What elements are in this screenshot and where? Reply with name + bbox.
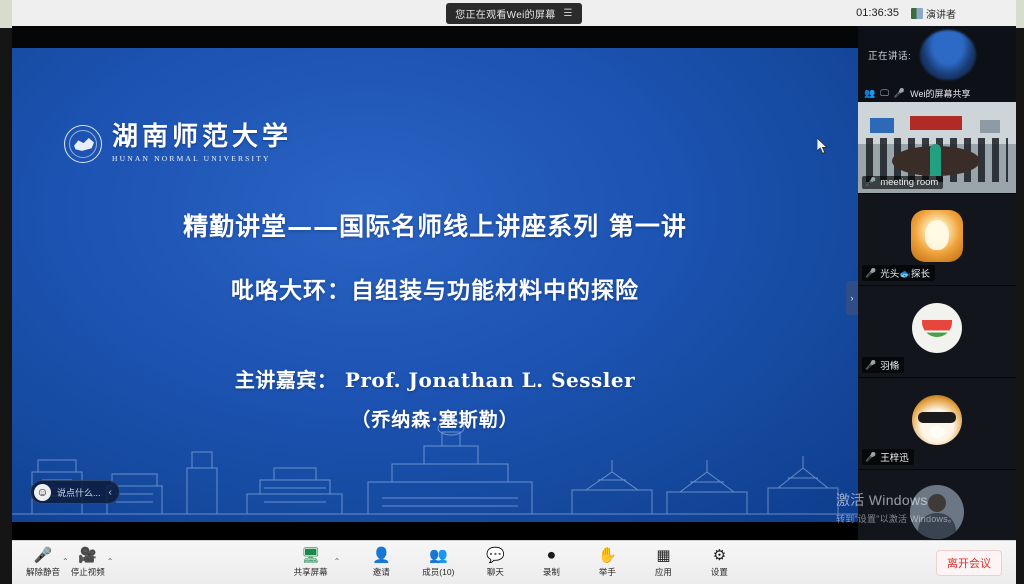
apps-icon: ▦ [656,548,670,564]
participant-name: 王梓迅 [880,450,909,464]
avatar [912,395,962,445]
microphone-muted-icon: 🎤 [865,452,876,463]
leave-meeting-button[interactable]: 离开会议 [936,550,1002,576]
monitor-bezel-left [0,0,12,584]
chat-label: 聊天 [487,566,504,578]
participant-name-chip: 🎤 羽翛 [862,357,904,373]
view-mode-label: 演讲者 [926,6,956,21]
toolbar-center-group: 🖥 共享屏幕 ⌃ 👤 邀请 👥 成员(10) 💬 聊天 ⏺ 录制 ✋ [12,548,1016,578]
reaction-chat-bubble[interactable]: ☺ 说点什么... ‹ [30,480,120,504]
apps-button[interactable]: ▦ 应用 [648,548,678,578]
avatar [910,485,964,539]
viewing-screen-label: 您正在观看Wei的屏幕 [455,6,555,21]
slide-guest-line: 主讲嘉宾： Prof. Jonathan L. Sessler [12,364,858,393]
participant-name-chip: 🎤 光头🐟探长 [862,265,935,281]
participant-name: 羽翛 [880,358,899,372]
settings-gear-icon: ⚙ [713,548,726,564]
participant-tile-meeting-room[interactable]: 🎤 meeting room [858,102,1016,194]
zoom-meeting-window: 您正在观看Wei的屏幕 ☰ 01:36:35 演讲者 湖南师范大学 HUNAN … [0,0,1024,584]
participants-button[interactable]: 👥 成员(10) [422,548,454,578]
microphone-muted-icon: 🎤 [894,89,905,98]
participant-name-chip: 🎤 meeting room [862,176,943,189]
participant-tile-2[interactable]: 🎤 光头🐟探长 [858,194,1016,286]
slide-title-line2: 吡咯大环：自组装与功能材料中的探险 [12,271,858,305]
meeting-control-toolbar: 🎤 解除静音 ⌃ 🎥 停止视频 ⌃ 🖥 共享屏幕 ⌃ 👤 邀请 👥 成员(1 [12,540,1016,584]
participants-icon: 👥 [864,89,875,98]
university-name-cn: 湖南师范大学 [112,124,292,150]
participant-tile-3[interactable]: 🎤 羽翛 [858,286,1016,378]
hamburger-icon[interactable]: ☰ [564,8,573,19]
chat-input-placeholder[interactable]: 说点什么... [57,486,101,499]
participant-name: 光头🐟探长 [880,266,930,280]
chat-icon: 💬 [486,548,505,564]
settings-label: 设置 [711,566,728,578]
raise-hand-label: 举手 [599,566,616,578]
share-screen-label: 共享屏幕 [294,566,328,578]
invite-label: 邀请 [373,566,390,578]
apps-label: 应用 [655,566,672,578]
participant-video-rail: 正在讲话: 👥 🖵 🎤 Wei的屏幕共享 🎤 meeting room [858,26,1016,540]
share-screen-icon: 🖥 [301,548,320,564]
viewing-screen-pill[interactable]: 您正在观看Wei的屏幕 ☰ [446,3,582,24]
invite-button[interactable]: 👤 邀请 [366,548,396,578]
mouse-cursor [817,138,829,155]
university-seal-icon [64,125,102,163]
raise-hand-icon: ✋ [598,548,617,564]
view-mode-button[interactable]: 演讲者 [911,6,956,21]
avatar [911,210,963,262]
participant-tile-4[interactable]: 🎤 王梓迅 [858,378,1016,470]
collapse-sidebar-handle[interactable]: › [846,281,858,315]
share-options-caret-icon[interactable]: ⌃ [334,557,341,578]
top-bar-right-group: 01:36:35 演讲者 [856,0,956,26]
participant-tile-5[interactable] [858,470,1016,540]
settings-button[interactable]: ⚙ 设置 [704,548,734,578]
microphone-muted-icon: 🎤 [865,360,876,371]
campus-skyline-illustration [12,402,858,522]
chevron-left-icon[interactable]: ‹ [109,487,112,498]
emoji-icon[interactable]: ☺ [34,484,51,501]
screen-share-icon: 🖵 [880,89,889,98]
active-speaker-label: 正在讲话: [868,48,911,62]
invite-icon: 👤 [372,548,391,564]
record-icon: ⏺ [548,548,556,564]
participant-name: meeting room [880,177,938,188]
microphone-muted-icon: 🎤 [865,268,876,279]
slide-title-line1: 精勤讲堂——国际名师线上讲座系列 第一讲 [12,207,858,243]
screen-share-indicator: 👥 🖵 🎤 Wei的屏幕共享 [858,84,1016,102]
participants-icon: 👥 [429,548,448,564]
participant-name-chip: 🎤 王梓迅 [862,449,914,465]
record-label: 录制 [543,566,560,578]
screen-share-owner-label: Wei的屏幕共享 [910,87,970,100]
monitor-bezel-right [1016,0,1024,584]
active-speaker-strip: 正在讲话: [858,26,1016,84]
meeting-top-bar: 您正在观看Wei的屏幕 ☰ 01:36:35 演讲者 [12,0,1016,26]
shared-screen-letterbox [12,26,858,48]
university-name-en: HUNAN NORMAL UNIVERSITY [112,154,292,163]
chat-button[interactable]: 💬 聊天 [480,548,510,578]
shared-screen-stage[interactable]: 湖南师范大学 HUNAN NORMAL UNIVERSITY 精勤讲堂——国际名… [12,26,858,540]
record-button[interactable]: ⏺ 录制 [536,548,566,578]
active-speaker-thumbnail [920,30,976,80]
meeting-timer: 01:36:35 [856,7,899,19]
presentation-slide: 湖南师范大学 HUNAN NORMAL UNIVERSITY 精勤讲堂——国际名… [12,48,858,522]
microphone-muted-icon: 🎤 [865,177,876,188]
speaker-view-icon [911,8,923,19]
university-logo: 湖南师范大学 HUNAN NORMAL UNIVERSITY [64,124,292,163]
avatar [912,303,962,353]
share-screen-button[interactable]: 🖥 共享屏幕 [294,548,328,578]
participants-label: 成员(10) [422,566,454,578]
raise-hand-button[interactable]: ✋ 举手 [592,548,622,578]
